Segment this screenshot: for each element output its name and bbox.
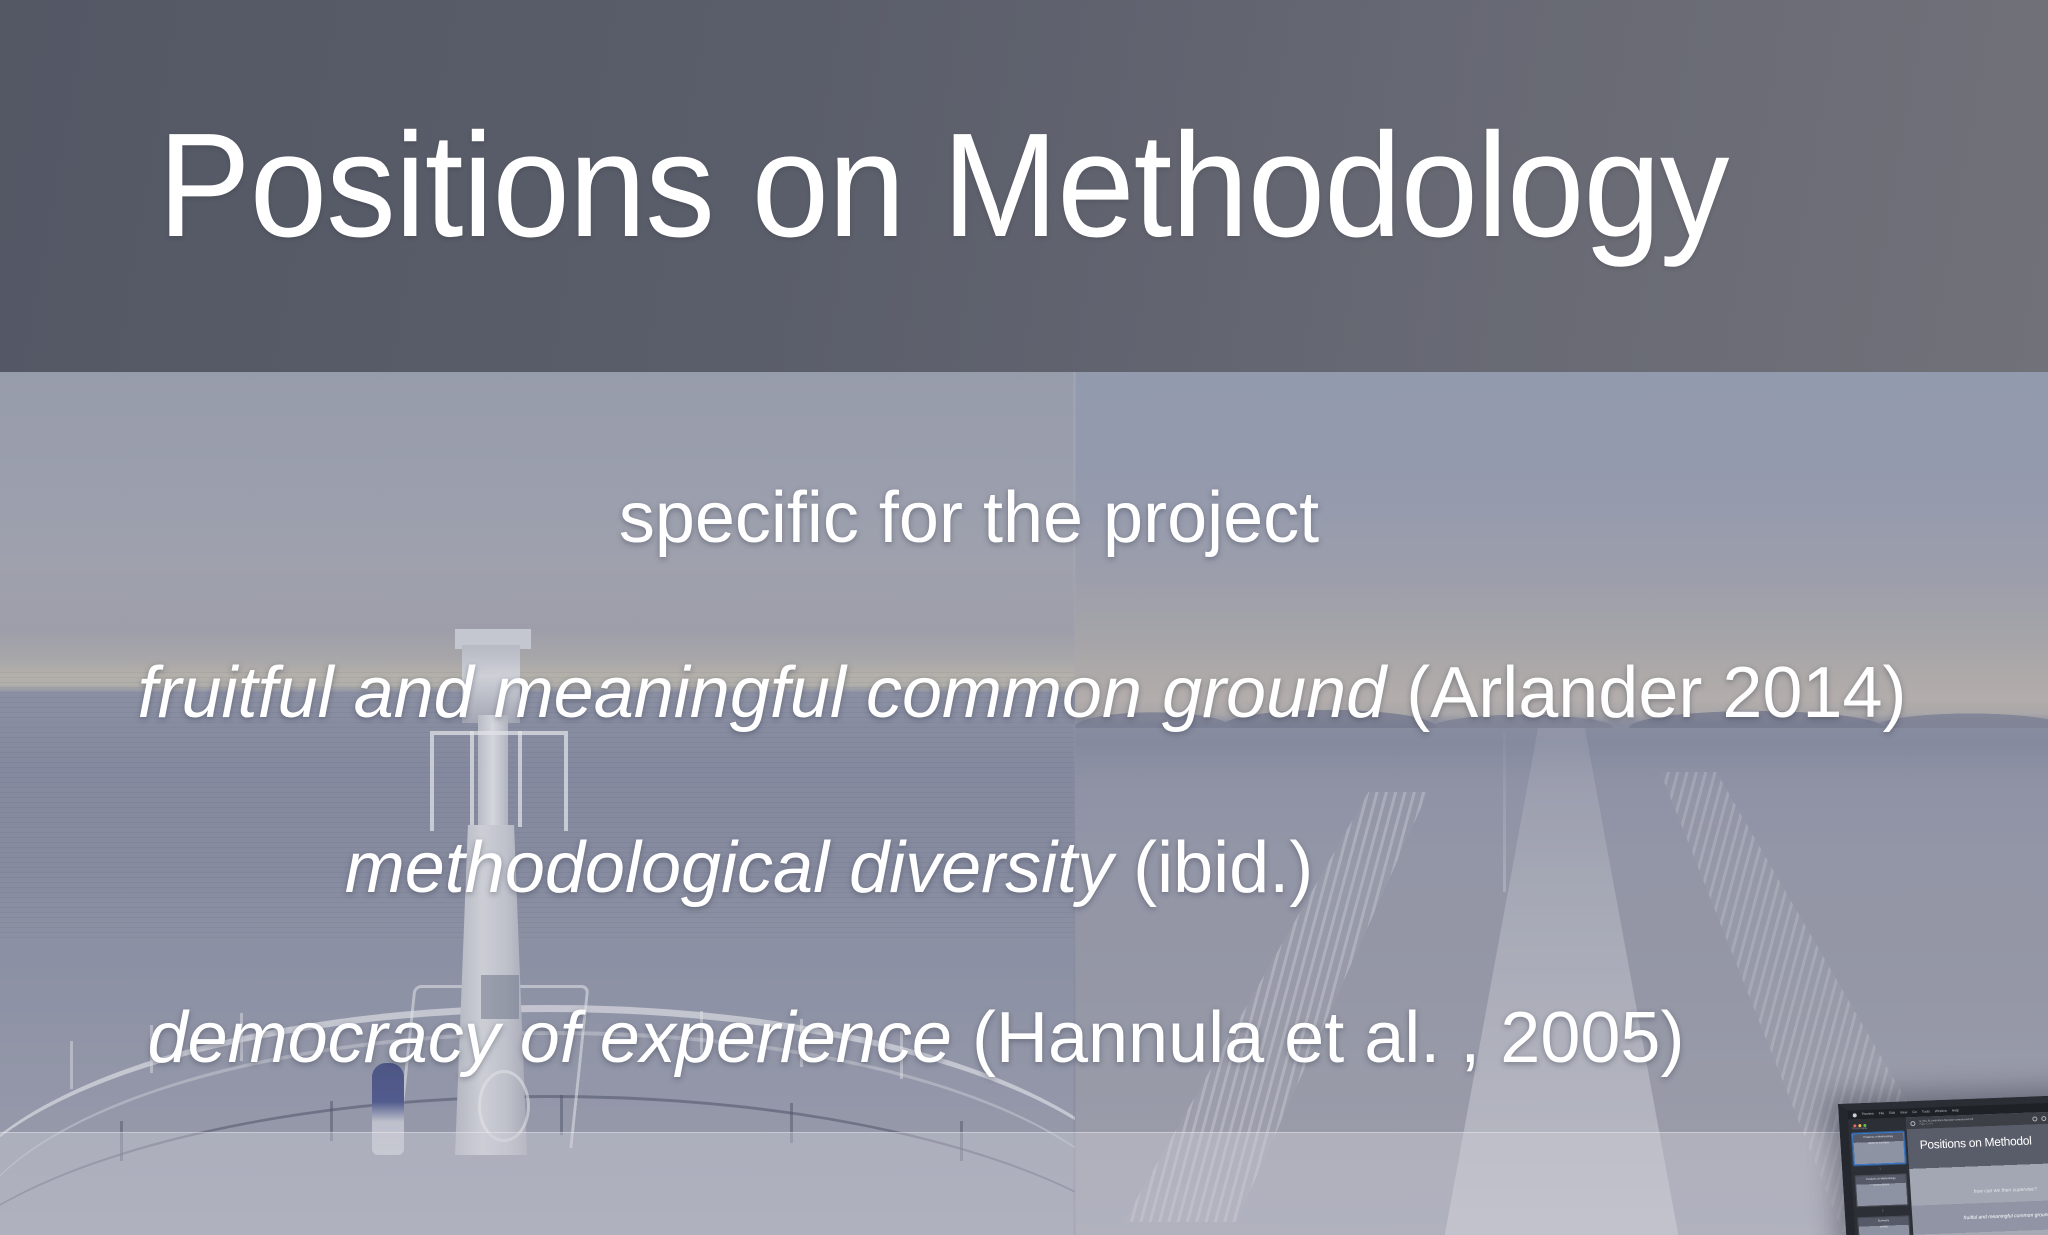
sidebar-header: Thumbnails	[1852, 1125, 1904, 1130]
menu-item-go[interactable]: Go	[1912, 1111, 1917, 1115]
sidebar-thumbnail-2-body: common ground	[1856, 1179, 1906, 1188]
mast-platform-rail	[430, 731, 568, 831]
menu-item-help[interactable]: Help	[1952, 1109, 1959, 1113]
preview-slide-title: Positions on Methodol	[1919, 1134, 2032, 1152]
mast-light-box	[462, 645, 520, 723]
zoom-out-icon[interactable]	[2032, 1116, 2037, 1121]
sidebar-thumbnail-2[interactable]: Positions on Methodology common ground	[1855, 1173, 1909, 1207]
thumbnail-sidebar[interactable]: Thumbnails Positions on Methodology spec…	[1848, 1117, 1915, 1235]
sidebar-thumbnail-1[interactable]: Positions on Methodology specific for th…	[1852, 1131, 1906, 1165]
mast-panel	[481, 975, 519, 1019]
preview-document-area: is_this_fit_instruktion-flyersjan-compre…	[1906, 1110, 2048, 1235]
preview-window: Thumbnails Positions on Methodology spec…	[1848, 1110, 2048, 1235]
sidebar-page-number-2: 2	[1857, 1207, 1909, 1213]
photo-seam	[1073, 372, 1076, 1235]
menu-item-view[interactable]: View	[1900, 1111, 1908, 1115]
menu-item-preview[interactable]: Preview	[1862, 1112, 1874, 1116]
sidebar-page-number-1: 1	[1854, 1165, 1906, 1171]
sidebar-thumbnail-3[interactable]: Summary diversity	[1857, 1215, 1911, 1235]
preview-slide-render: Positions on Methodol how can we then su…	[1907, 1122, 2048, 1235]
menu-item-file[interactable]: File	[1879, 1112, 1885, 1116]
picture-in-picture-inset[interactable]: Preview File Edit View Go Tools Window H…	[1838, 1094, 2048, 1235]
apple-logo-icon[interactable]	[1853, 1113, 1857, 1117]
sidebar-thumbnail-3-body: diversity	[1859, 1221, 1909, 1230]
preview-slide-line-1: how can we then supervise?	[1911, 1184, 2048, 1197]
menu-item-tools[interactable]: Tools	[1922, 1110, 1930, 1114]
distant-hills	[1075, 694, 2048, 728]
presentation-slide: Positions on Methodology specific for th…	[0, 0, 2048, 1235]
preview-slide-line-2: fruitful and meaningful common ground	[1912, 1210, 2048, 1223]
bottom-overlay-band	[0, 1132, 2048, 1235]
menu-item-window[interactable]: Window	[1935, 1110, 1947, 1114]
menu-item-edit[interactable]: Edit	[1889, 1112, 1895, 1116]
sidebar-toggle-icon[interactable]	[1910, 1121, 1915, 1126]
page-title: Positions on Methodology	[0, 0, 1925, 372]
sidebar-thumbnail-1-body: specific for the project	[1853, 1137, 1903, 1146]
laptop-screen: Preview File Edit View Go Tools Window H…	[1847, 1101, 2048, 1235]
ship-bow-photo	[0, 372, 1075, 1235]
zoom-in-icon[interactable]	[2041, 1116, 2046, 1121]
document-page-indicator: Page 1 of 4	[1919, 1121, 1973, 1126]
